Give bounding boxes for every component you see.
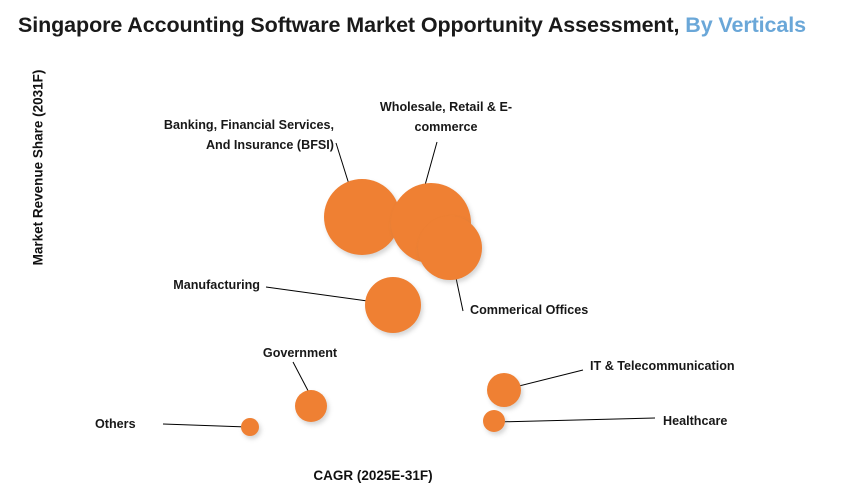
bubble-others[interactable] xyxy=(241,418,259,436)
bubble-label-government: Government xyxy=(240,343,360,363)
bubble-chart: Singapore Accounting Software Market Opp… xyxy=(0,0,863,496)
bubble-healthcare[interactable] xyxy=(483,410,505,432)
leader-line xyxy=(163,424,247,427)
bubble-manufacturing[interactable] xyxy=(365,277,421,333)
bubble-label-commerical-offices: Commerical Offices xyxy=(470,300,630,320)
bubble-banking-financial-services-and-insurance-bfsi[interactable] xyxy=(324,179,400,255)
bubble-government[interactable] xyxy=(295,390,327,422)
bubble-label-it-telecommunication: IT & Telecommunication xyxy=(590,356,780,376)
leader-line xyxy=(496,418,655,422)
bubble-label-wholesale-retail-e-commerce: Wholesale, Retail & E- commerce xyxy=(372,97,520,137)
bubble-label-others: Others xyxy=(95,414,157,434)
plot-area: Banking, Financial Services, And Insuran… xyxy=(0,0,863,496)
bubble-commerical-offices[interactable] xyxy=(418,216,482,280)
bubble-it-telecommunication[interactable] xyxy=(487,373,521,407)
bubble-label-manufacturing: Manufacturing xyxy=(130,275,260,295)
bubble-label-banking-financial-services-and-insurance-bfsi: Banking, Financial Services, And Insuran… xyxy=(96,115,334,155)
bubble-label-healthcare: Healthcare xyxy=(663,411,763,431)
